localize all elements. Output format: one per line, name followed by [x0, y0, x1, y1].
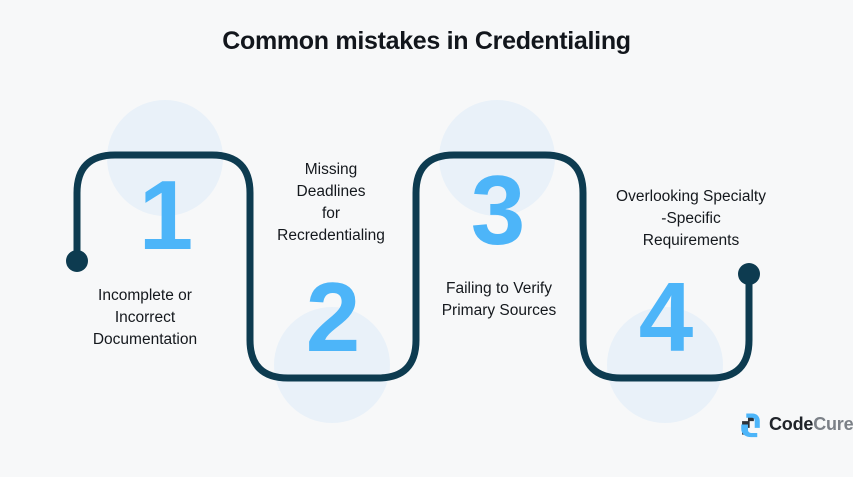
path-end-dot: [738, 263, 760, 285]
brand-logo: CodeCure: [737, 411, 853, 438]
step-number-1: 1: [95, 166, 235, 264]
step-label-2: MissingDeadlinesforRecredentialing: [226, 159, 436, 247]
brand-name-part-1: Code: [769, 414, 813, 434]
path-start-dot: [66, 250, 88, 272]
infographic-canvas: Common mistakes in Credentialing 1 2 3 4…: [0, 0, 853, 477]
brand-name-part-2: Cure: [813, 414, 853, 434]
step-label-1: Incomplete orIncorrectDocumentation: [40, 285, 250, 351]
brand-name: CodeCure: [769, 414, 853, 435]
step-number-2: 2: [262, 268, 402, 366]
step-label-4: Overlooking Specialty-SpecificRequiremen…: [586, 186, 796, 252]
step-number-3: 3: [427, 161, 567, 259]
step-number-4: 4: [595, 268, 735, 366]
step-label-3: Failing to VerifyPrimary Sources: [394, 278, 604, 322]
codecure-monogram-icon: [737, 411, 764, 438]
